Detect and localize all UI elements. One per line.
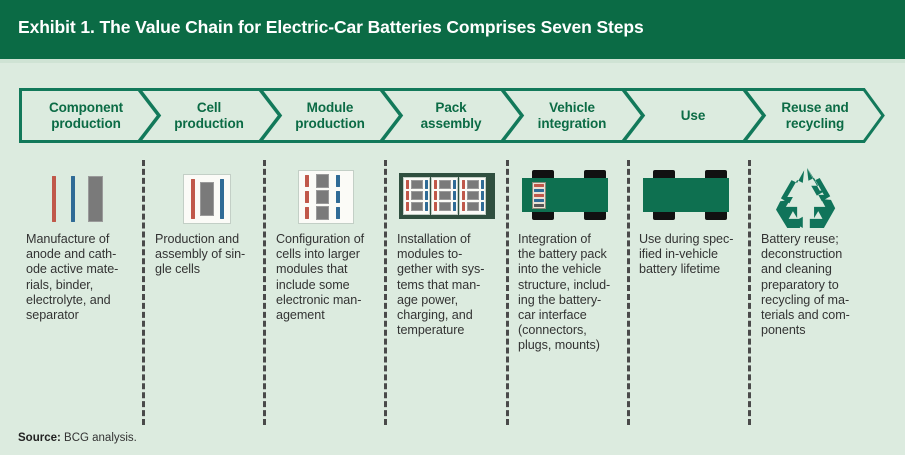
step-column-component-production: Manufacture of anode and cath- ode activ…: [26, 160, 138, 323]
chevron-label: Pack assembly: [421, 100, 482, 132]
anode-bar: [305, 207, 309, 219]
chevron-step-use[interactable]: Use: [631, 88, 755, 143]
cathode-bar: [425, 191, 428, 200]
single-cell-icon: [155, 166, 255, 226]
cathode-bar: [481, 202, 484, 211]
step-description: Installation of modules to- gether with …: [397, 232, 501, 338]
step-icon-wrap: [639, 160, 743, 232]
step-icon-wrap: [397, 160, 501, 232]
step-icon-wrap: [26, 160, 138, 232]
step-description: Manufacture of anode and cath- ode activ…: [26, 232, 138, 323]
separator-block: [411, 202, 423, 211]
source-label: Source:: [18, 432, 61, 444]
chevron-step-vehicle-integration[interactable]: Vehicle integration: [510, 88, 634, 143]
step-icon-wrap: [276, 160, 380, 232]
step-description: Battery reuse; deconstruction and cleani…: [761, 232, 879, 338]
chevron-label: Component production: [49, 100, 123, 132]
separator-block: [316, 206, 329, 220]
chevron-step-module-production[interactable]: Module production: [268, 88, 392, 143]
source-note: Source: BCG analysis.: [18, 432, 137, 444]
anode-bar: [462, 180, 465, 189]
anode-bar: [434, 191, 437, 200]
chevron-step-component-production[interactable]: Component production: [23, 88, 149, 143]
step-column-pack-assembly: Installation of modules to- gether with …: [397, 160, 501, 338]
anode-bar: [406, 180, 409, 189]
step-icon-wrap: [155, 160, 259, 232]
chevron-step-cell-production[interactable]: Cell production: [147, 88, 271, 143]
chevron-label: Cell production: [174, 100, 244, 132]
anode-bar: [406, 202, 409, 211]
column-separator: [748, 160, 751, 425]
column-separator: [627, 160, 630, 425]
cathode-bar: [336, 191, 340, 203]
separator-block: [439, 202, 451, 211]
car-body: [643, 178, 729, 212]
separator-block: [439, 191, 451, 200]
cathode-bar: [71, 176, 75, 222]
step-column-vehicle-integration: Integration of the battery pack into the…: [518, 160, 622, 354]
page-title: Exhibit 1. The Value Chain for Electric-…: [18, 17, 644, 38]
separator-block: [467, 191, 479, 200]
chevron-step-reuse-recycling[interactable]: Reuse and recycling: [752, 88, 878, 143]
cathode-bar: [481, 191, 484, 200]
pack-cell-row: [534, 184, 544, 187]
exhibit-figure: Exhibit 1. The Value Chain for Electric-…: [0, 0, 905, 455]
anode-bar: [462, 191, 465, 200]
cathode-bar: [336, 175, 340, 187]
separator-block: [411, 180, 423, 189]
anode-bar: [191, 179, 195, 219]
battery-pack-icon: [397, 165, 499, 227]
cathode-bar: [453, 180, 456, 189]
electrode-materials-icon: [26, 166, 136, 226]
anode-bar: [434, 180, 437, 189]
header-divider: [0, 59, 905, 63]
separator-block: [316, 190, 329, 204]
step-description: Configuration of cells into larger modul…: [276, 232, 380, 323]
cathode-bar: [453, 202, 456, 211]
car-icon: [639, 164, 741, 228]
recycling-icon: [769, 166, 845, 228]
column-separator: [506, 160, 509, 425]
anode-bar: [305, 175, 309, 187]
column-separator: [142, 160, 145, 425]
chevron-label: Vehicle integration: [538, 100, 607, 132]
step-column-reuse-recycling: Battery reuse; deconstruction and cleani…: [761, 160, 879, 338]
separator-block: [467, 180, 479, 189]
pack-cell-row: [534, 194, 544, 197]
separator-block: [200, 182, 214, 216]
value-chain-chevron-band: Component production Cell production Mod…: [19, 88, 886, 143]
separator-block: [88, 176, 103, 222]
anode-bar: [406, 191, 409, 200]
battery-module-icon: [276, 165, 376, 227]
separator-block: [411, 191, 423, 200]
step-description: Production and assembly of sin- gle cell…: [155, 232, 259, 278]
cathode-bar: [425, 202, 428, 211]
chevron-label: Module production: [295, 100, 365, 132]
step-description: Use during spec- ified in-vehicle batter…: [639, 232, 743, 278]
step-icon-wrap: [518, 160, 622, 232]
exhibit-header-bar: Exhibit 1. The Value Chain for Electric-…: [0, 0, 905, 59]
column-separator: [263, 160, 266, 425]
cathode-bar: [425, 180, 428, 189]
source-value: BCG analysis.: [61, 432, 137, 444]
step-column-use: Use during spec- ified in-vehicle batter…: [639, 160, 743, 278]
column-separator: [384, 160, 387, 425]
step-column-module-production: Configuration of cells into larger modul…: [276, 160, 380, 323]
anode-bar: [305, 191, 309, 203]
step-column-cell-production: Production and assembly of sin- gle cell…: [155, 160, 259, 278]
pack-cell-row: [534, 189, 544, 192]
cathode-bar: [220, 179, 224, 219]
pack-electronics: [534, 204, 544, 207]
separator-block: [467, 202, 479, 211]
chevron-step-pack-assembly[interactable]: Pack assembly: [389, 88, 513, 143]
anode-bar: [434, 202, 437, 211]
chevron-label: Use: [681, 108, 705, 124]
car-with-battery-icon: [518, 164, 620, 228]
anode-bar: [462, 202, 465, 211]
step-icon-wrap: [761, 160, 879, 232]
separator-block: [439, 180, 451, 189]
chevron-label: Reuse and recycling: [781, 100, 848, 132]
cathode-bar: [336, 207, 340, 219]
pack-cell-row: [534, 199, 544, 202]
anode-bar: [52, 176, 56, 222]
cathode-bar: [481, 180, 484, 189]
cathode-bar: [453, 191, 456, 200]
separator-block: [316, 174, 329, 188]
recycling-icon-wrap: [761, 164, 871, 228]
step-description: Integration of the battery pack into the…: [518, 232, 622, 354]
